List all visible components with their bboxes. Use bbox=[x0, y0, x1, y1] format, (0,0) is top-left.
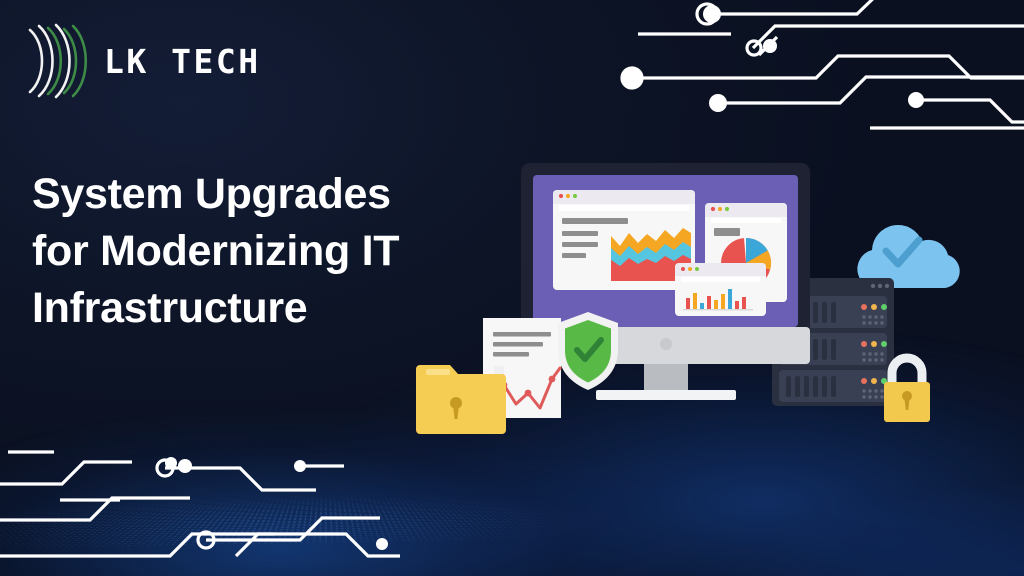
hero-banner: LK TECH System Upgrades for Modernizing … bbox=[0, 0, 1024, 576]
bar-chart-window bbox=[675, 263, 766, 316]
sound-wave-arcs-logo-icon bbox=[22, 22, 92, 100]
headline-line-3: Infrastructure bbox=[32, 280, 462, 337]
dashboard-window-area-chart bbox=[553, 190, 695, 290]
it-infrastructure-illustration bbox=[400, 150, 1000, 450]
padlock-secure bbox=[884, 358, 930, 422]
brand-logo[interactable]: LK TECH bbox=[22, 22, 261, 100]
headline-line-2: for Modernizing IT bbox=[32, 223, 462, 280]
headline-line-1: System Upgrades bbox=[32, 166, 462, 223]
locked-folder bbox=[416, 365, 506, 434]
server-unit bbox=[779, 370, 887, 402]
brand-name: LK TECH bbox=[104, 45, 261, 78]
security-shield-check bbox=[558, 312, 618, 390]
page-title: System Upgrades for Modernizing IT Infra… bbox=[32, 166, 462, 338]
